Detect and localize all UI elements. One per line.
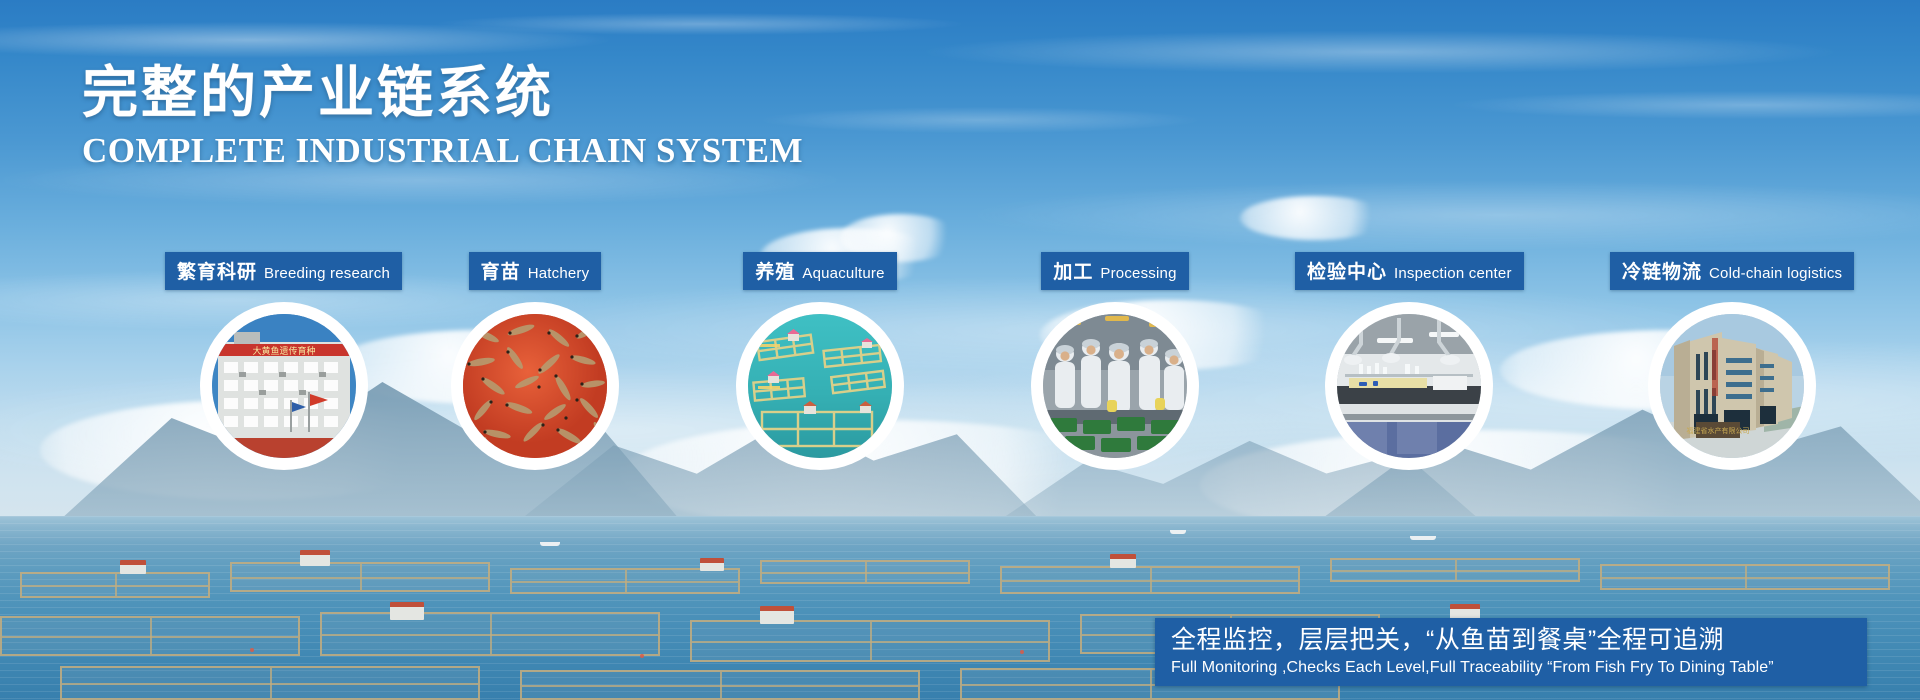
step-badge: 检验中心 Inspection center — [1295, 252, 1524, 290]
step-label-en: Inspection center — [1394, 265, 1512, 282]
step-label-cn: 养殖 — [755, 257, 795, 284]
raft-hut — [120, 560, 146, 574]
chain-step-breeding-research[interactable]: 繁育科研 Breeding research — [165, 252, 402, 466]
banner-heading: 完整的产业链系统 COMPLETE INDUSTRIAL CHAIN SYSTE… — [82, 62, 803, 171]
raft-pen — [20, 572, 210, 598]
svg-text:福建省水产有限公司: 福建省水产有限公司 — [1687, 426, 1750, 435]
step-label-en: Breeding research — [264, 265, 390, 282]
step-label-en: Aquaculture — [802, 265, 884, 282]
step-badge: 繁育科研 Breeding research — [165, 252, 402, 290]
step-badge: 育苗 Hatchery — [469, 252, 602, 290]
raft-pen — [230, 562, 490, 592]
chain-step-cold-chain-logistics[interactable]: 冷链物流 Cold-chain logistics — [1610, 252, 1854, 466]
cold-chain-logistics-warehouse-photo: 福建省水产有限公司 — [1660, 314, 1804, 458]
step-label-en: Hatchery — [528, 265, 590, 282]
raft-hut — [1110, 554, 1136, 568]
ribbon-text-en: Full Monitoring ,Checks Each Level,Full … — [1171, 659, 1851, 677]
raft-pen — [1330, 558, 1580, 582]
step-photo-wrap[interactable] — [740, 306, 900, 466]
step-label-en: Cold-chain logistics — [1709, 265, 1842, 282]
raft-hut — [300, 550, 330, 566]
buoy-marker — [250, 648, 254, 652]
inspection-center-laboratory-photo — [1337, 314, 1481, 458]
step-photo-wrap[interactable]: 福建省水产有限公司 — [1652, 306, 1812, 466]
raft-pen — [1000, 566, 1300, 594]
step-label-cn: 育苗 — [481, 257, 521, 284]
svg-text:大黄鱼遗传育种: 大黄鱼遗传育种 — [252, 345, 315, 356]
traceability-ribbon: 全程监控，层层把关，“从鱼苗到餐桌”全程可追溯 Full Monitoring … — [1155, 618, 1867, 686]
hatchery-fish-fry-photo — [463, 314, 607, 458]
raft-pen — [760, 560, 970, 584]
cloud-puff-icon — [1240, 196, 1390, 240]
chain-step-inspection-center[interactable]: 检验中心 Inspection center — [1295, 252, 1524, 466]
raft-hut — [700, 558, 724, 571]
raft-pen — [520, 670, 920, 700]
industrial-chain-steps: 繁育科研 Breeding research — [0, 252, 1920, 542]
raft-pen — [1600, 564, 1890, 590]
step-photo-wrap[interactable] — [1035, 306, 1195, 466]
chain-step-aquaculture[interactable]: 养殖 Aquaculture — [740, 252, 900, 466]
step-badge: 养殖 Aquaculture — [743, 252, 896, 290]
step-badge: 加工 Processing — [1041, 252, 1188, 290]
banner-stage: 完整的产业链系统 COMPLETE INDUSTRIAL CHAIN SYSTE… — [0, 0, 1920, 700]
aquaculture-sea-pens-photo — [748, 314, 892, 458]
step-label-cn: 加工 — [1053, 257, 1093, 284]
step-photo-wrap[interactable] — [1329, 306, 1489, 466]
step-badge: 冷链物流 Cold-chain logistics — [1610, 252, 1854, 290]
chain-step-hatchery[interactable]: 育苗 Hatchery — [455, 252, 615, 466]
page-title-cn: 完整的产业链系统 — [82, 62, 803, 125]
page-title-en: COMPLETE INDUSTRIAL CHAIN SYSTEM — [82, 131, 803, 171]
chain-step-processing[interactable]: 加工 Processing — [1035, 252, 1195, 466]
raft-pen — [510, 568, 740, 594]
breeding-research-building-photo: 大黄鱼遗传育种 — [212, 314, 356, 458]
buoy-marker — [640, 654, 644, 658]
step-photo-wrap[interactable]: 大黄鱼遗传育种 — [204, 306, 364, 466]
step-label-en: Processing — [1100, 265, 1176, 282]
raft-pen — [0, 616, 300, 656]
processing-plant-workers-photo — [1043, 314, 1187, 458]
raft-pen — [60, 666, 480, 700]
boat-icon — [540, 542, 560, 546]
raft-hut — [390, 602, 424, 620]
raft-hut — [760, 606, 794, 624]
step-label-cn: 检验中心 — [1307, 257, 1387, 284]
step-photo-wrap[interactable] — [455, 306, 615, 466]
step-label-cn: 繁育科研 — [177, 257, 257, 284]
ribbon-text-cn: 全程监控，层层把关，“从鱼苗到餐桌”全程可追溯 — [1171, 625, 1851, 655]
step-label-cn: 冷链物流 — [1622, 257, 1702, 284]
buoy-marker — [1020, 650, 1024, 654]
raft-pen — [320, 612, 660, 656]
raft-pen — [690, 620, 1050, 662]
